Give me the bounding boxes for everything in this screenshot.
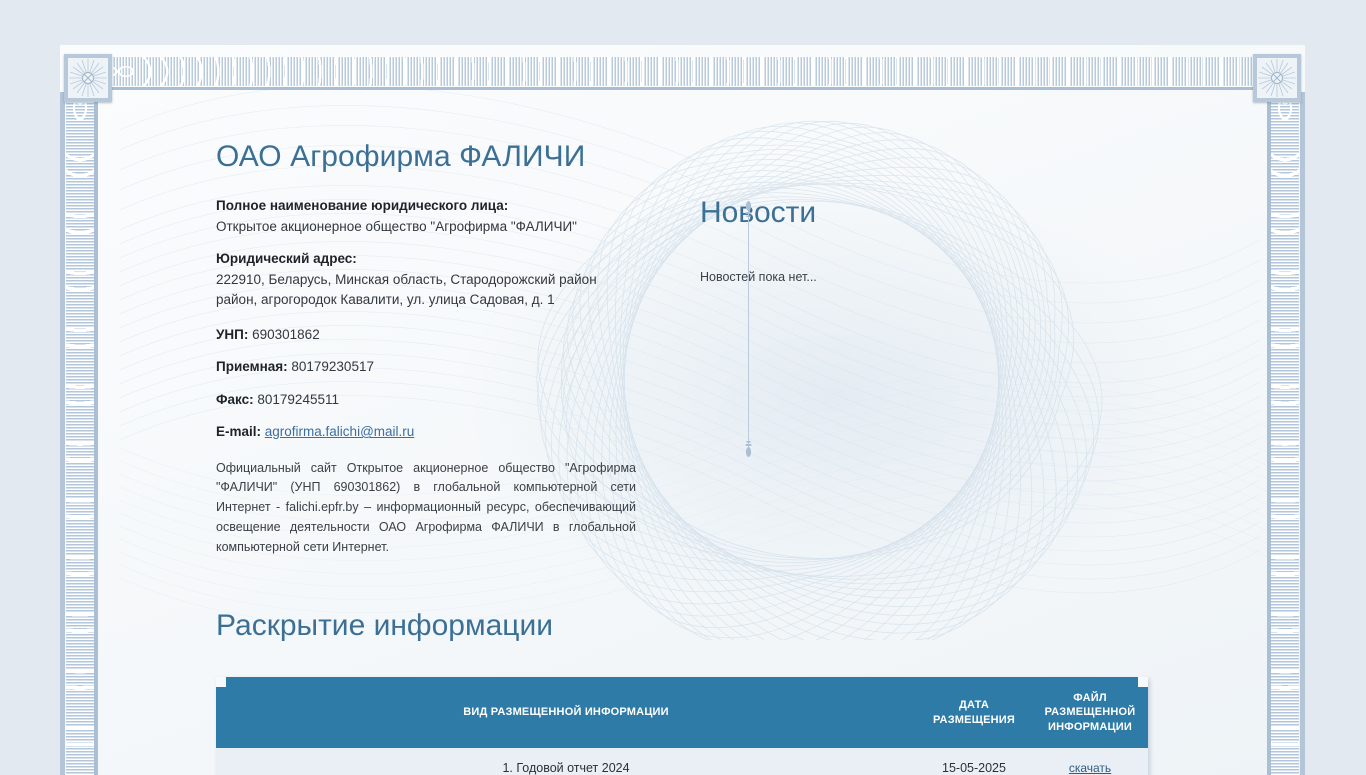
news-title: Новости [700,196,1216,230]
frame-edge-right [1300,92,1305,775]
fax-value: 80179245511 [257,392,339,407]
field-full-name: Полное наименование юридического лица: О… [216,196,646,237]
field-reception: Приемная: 80179230517 [216,357,646,378]
email-label: E-mail: [216,424,261,439]
top-columns: Полное наименование юридического лица: О… [216,196,1216,557]
news-empty-message: Новостей пока нет... [700,230,1216,284]
frame-edge-right-inner [1267,92,1271,775]
news-section: Новости Новостей пока нет... [646,196,1216,557]
table-corner-notch-right [1138,677,1148,687]
field-email: E-mail: agrofirma.falichi@mail.ru [216,422,646,443]
full-name-value: Открытое акционерное общество "Агрофирма… [216,219,577,234]
ornamental-chain-band-left [66,92,94,775]
site-description: Официальный сайт Открытое акционерное об… [216,459,636,558]
table-header-row: ВИД РАЗМЕЩЕННОЙ ИНФОРМАЦИИ ДАТА РАЗМЕЩЕН… [216,677,1148,747]
field-unp: УНП: 690301862 [216,325,646,346]
field-address: Юридический адрес: 222910, Беларусь, Мин… [216,249,646,311]
field-fax: Факс: 80179245511 [216,390,646,411]
cell-kind: 1. Годовой отчет 2024 [216,748,916,775]
cell-date: 15-05-2025 [916,748,1032,775]
fax-label: Факс: [216,392,254,407]
full-name-label: Полное наименование юридического лица: [216,196,646,217]
column-header-date: ДАТА РАЗМЕЩЕНИЯ [916,677,1032,747]
ornamental-chain-band-top [109,57,1299,86]
frame-edge-left-inner [94,92,98,775]
address-line-2: район, агрогородок Кавалити, ул. улица С… [216,292,555,307]
email-link[interactable]: agrofirma.falichi@mail.ru [265,424,415,439]
ornamental-divider [744,198,753,460]
cell-file: скачать [1032,748,1148,775]
unp-label: УНП: [216,327,248,342]
reception-label: Приемная: [216,359,288,374]
disclosure-section: Раскрытие информации ВИД РАЗМЕЩЕННОЙ ИНФ… [216,609,1148,775]
disclosure-title: Раскрытие информации [216,609,1148,643]
table-corner-notch-left [216,677,226,687]
page-content: ОАО Агрофирма ФАЛИЧИ Полное наименование… [216,140,1216,775]
corner-rosette-icon [1253,54,1301,102]
page-title: ОАО Агрофирма ФАЛИЧИ [216,140,1216,174]
ornamental-chain-band-right [1271,92,1299,775]
column-header-file: ФАЙЛ РАЗМЕЩЕННОЙ ИНФОРМАЦИИ [1032,677,1148,747]
ornamental-rule-top [109,86,1299,90]
disclosure-table: ВИД РАЗМЕЩЕННОЙ ИНФОРМАЦИИ ДАТА РАЗМЕЩЕН… [216,677,1148,775]
column-header-kind: ВИД РАЗМЕЩЕННОЙ ИНФОРМАЦИИ [216,677,916,747]
address-label: Юридический адрес: [216,249,646,270]
organisation-info: Полное наименование юридического лица: О… [216,196,646,557]
unp-value: 690301862 [252,327,320,342]
table-row: 1. Годовой отчет 2024 15-05-2025 скачать [216,748,1148,775]
address-line-1: 222910, Беларусь, Минская область, Старо… [216,272,597,287]
certificate-frame: ОАО Агрофирма ФАЛИЧИ Полное наименование… [60,45,1305,775]
reception-value: 80179230517 [291,359,374,374]
corner-rosette-icon [64,54,112,102]
frame-edge-left [60,92,65,775]
